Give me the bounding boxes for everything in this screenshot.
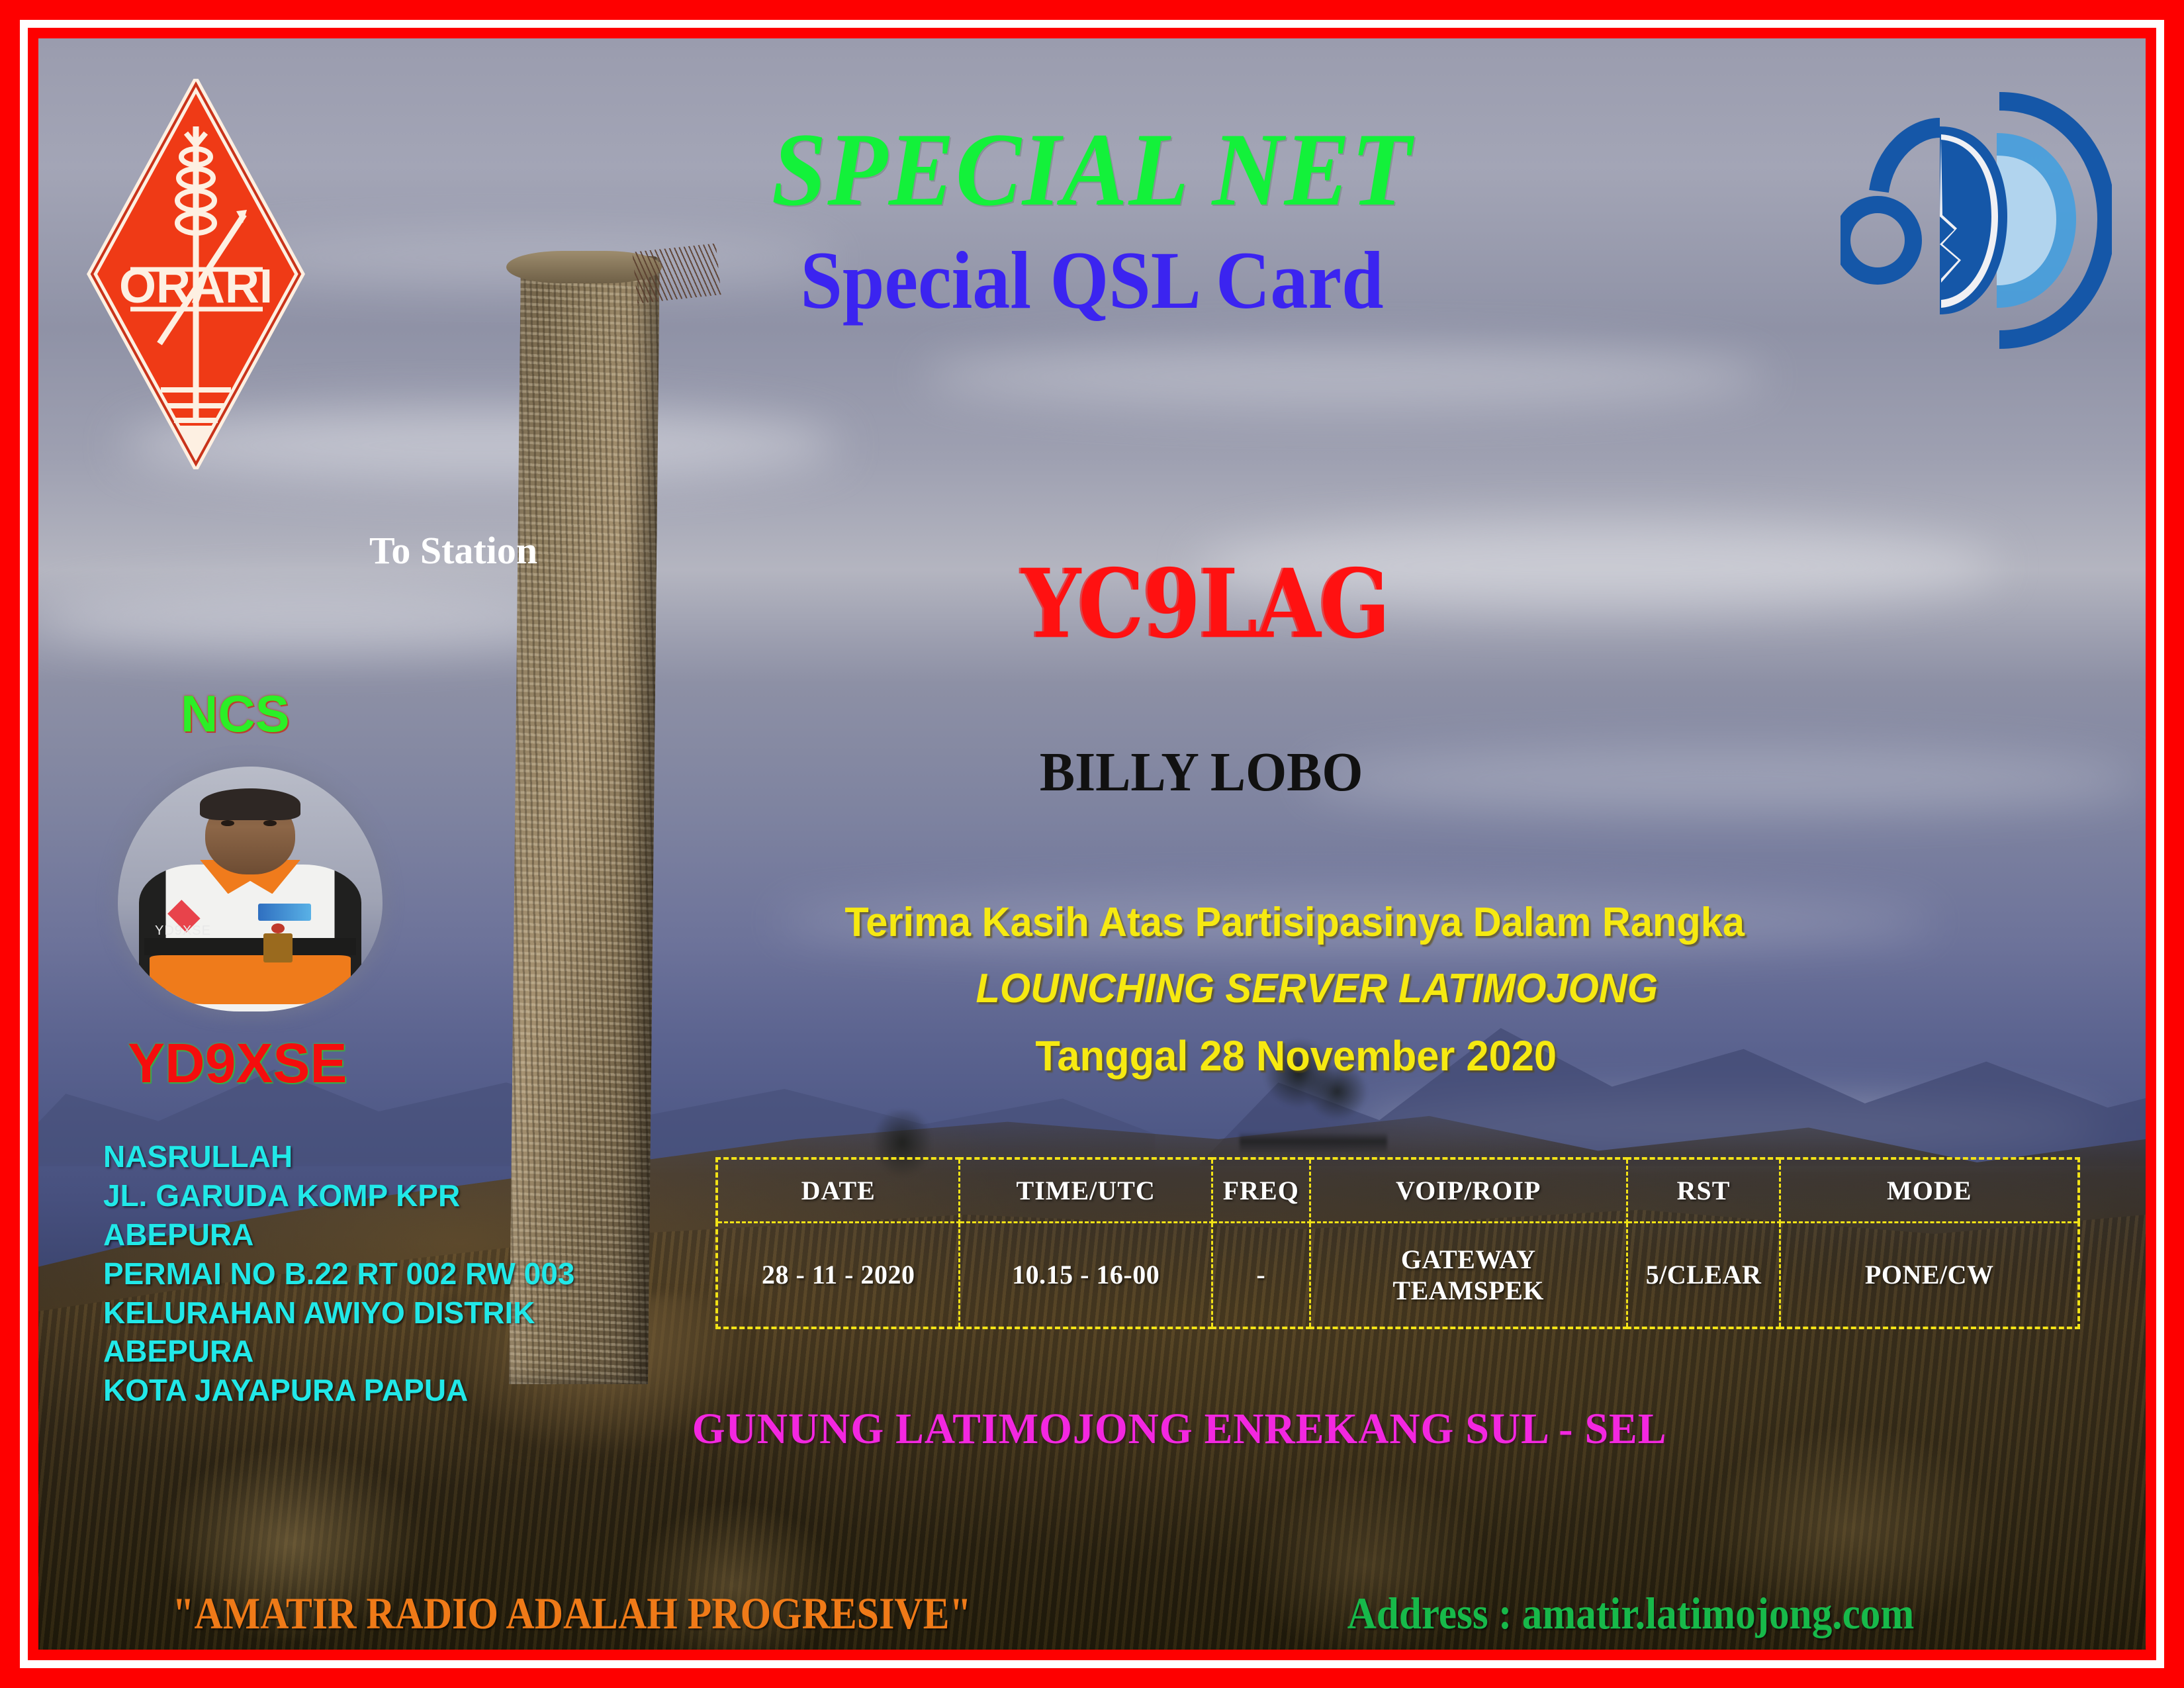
address-line: KELURAHAN AWIYO DISTRIK <box>103 1293 574 1333</box>
cell-rst: 5/CLEAR <box>1627 1222 1780 1328</box>
address-line: JL. GARUDA KOMP KPR <box>103 1176 574 1215</box>
card-content-overlay: ORARI <box>38 38 2146 1650</box>
cell-voip-line2: TEAMSPEK <box>1311 1275 1626 1306</box>
column-header-rst: RST <box>1627 1158 1780 1222</box>
avatar-hair <box>200 788 300 820</box>
table-header-row: DATE TIME/UTC FREQ VOIP/ROIP RST MODE <box>717 1158 2079 1222</box>
address-line: NASRULLAH <box>103 1137 574 1176</box>
qsl-card-outer-frame: ORARI <box>0 0 2184 1688</box>
website-address: Address : amatir.latimojong.com <box>1347 1587 1915 1640</box>
column-header-freq: FREQ <box>1212 1158 1310 1222</box>
avatar-chest-logo <box>258 904 311 921</box>
avatar-shirt-callsign: YD9XSE <box>155 923 211 939</box>
column-header-voip: VOIP/ROIP <box>1310 1158 1627 1222</box>
card-photo-background: ORARI <box>38 38 2146 1650</box>
page-subtitle: Special QSL Card <box>122 234 2061 328</box>
to-station-label: To Station <box>369 528 537 573</box>
qso-log-table: DATE TIME/UTC FREQ VOIP/ROIP RST MODE 28… <box>715 1157 2080 1329</box>
column-header-time: TIME/UTC <box>960 1158 1212 1222</box>
station-callsign: YC9LAG <box>1022 549 1389 660</box>
cell-voip-line1: GATEWAY <box>1311 1244 1626 1275</box>
avatar-id-badge <box>263 933 293 962</box>
address-line: KOTA JAYAPURA PAPUA <box>103 1371 574 1410</box>
cell-voip: GATEWAY TEAMSPEK <box>1310 1222 1627 1328</box>
avatar-belt <box>144 938 356 955</box>
cell-time: 10.15 - 16-00 <box>960 1222 1212 1328</box>
thanks-line: Terima Kasih Atas Partisipasinya Dalam R… <box>844 899 1745 946</box>
avatar-badge-clip <box>271 923 285 933</box>
operator-name: BILLY LOBO <box>1040 740 1363 804</box>
column-header-date: DATE <box>717 1158 960 1222</box>
cell-freq: - <box>1212 1222 1310 1328</box>
cell-date: 28 - 11 - 2020 <box>717 1222 960 1328</box>
table-row: 28 - 11 - 2020 10.15 - 16-00 - GATEWAY T… <box>717 1222 2079 1328</box>
column-header-mode: MODE <box>1780 1158 2079 1222</box>
avatar-sash <box>150 955 351 1004</box>
ncs-label: NCS <box>181 684 290 744</box>
event-date: Tanggal 28 November 2020 <box>1035 1031 1557 1080</box>
address-line: PERMAI NO B.22 RT 002 RW 003 <box>103 1254 574 1293</box>
event-line: LOUNCHING SERVER LATIMOJONG <box>976 965 1658 1012</box>
ncs-callsign: YD9XSE <box>128 1031 347 1096</box>
address-line: ABEPURA <box>103 1332 574 1371</box>
slogan-text: "AMATIR RADIO ADALAH PROGRESIVE" <box>172 1587 971 1640</box>
page-title: SPECIAL NET <box>102 110 2083 230</box>
address-line: ABEPURA <box>103 1215 574 1254</box>
cell-mode: PONE/CW <box>1780 1222 2079 1328</box>
station-address-block: NASRULLAH JL. GARUDA KOMP KPR ABEPURA PE… <box>103 1137 574 1410</box>
location-line: GUNUNG LATIMOJONG ENREKANG SUL - SEL <box>692 1404 1667 1454</box>
ncs-operator-avatar: YD9XSE <box>118 767 383 1011</box>
